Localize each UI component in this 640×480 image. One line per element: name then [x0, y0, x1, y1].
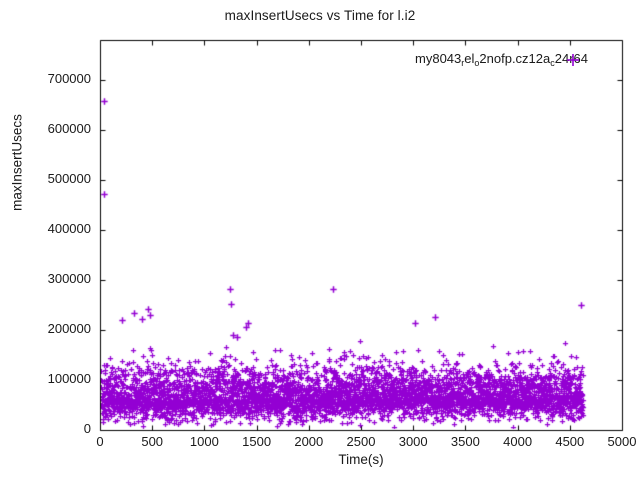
x-tick-label: 2000: [294, 434, 323, 449]
x-tick-label: 0: [96, 434, 103, 449]
x-tick-label: 3000: [399, 434, 428, 449]
x-tick-label: 1500: [242, 434, 271, 449]
chart-container: maxInsertUsecs vs Time for l.i2 maxInser…: [0, 0, 640, 480]
x-tick-label: 3500: [451, 434, 480, 449]
x-tick-label: 4000: [503, 434, 532, 449]
x-tick-label: 2500: [347, 434, 376, 449]
x-tick-label: 500: [141, 434, 163, 449]
plot-canvas: [0, 0, 640, 480]
x-tick-label: 1000: [190, 434, 219, 449]
legend-entry-label: my8043relo2nofp.cz12ac24r64: [415, 51, 588, 66]
x-tick-label: 5000: [608, 434, 637, 449]
x-tick-label: 4500: [555, 434, 584, 449]
legend-marker-plus-icon: [566, 53, 580, 67]
